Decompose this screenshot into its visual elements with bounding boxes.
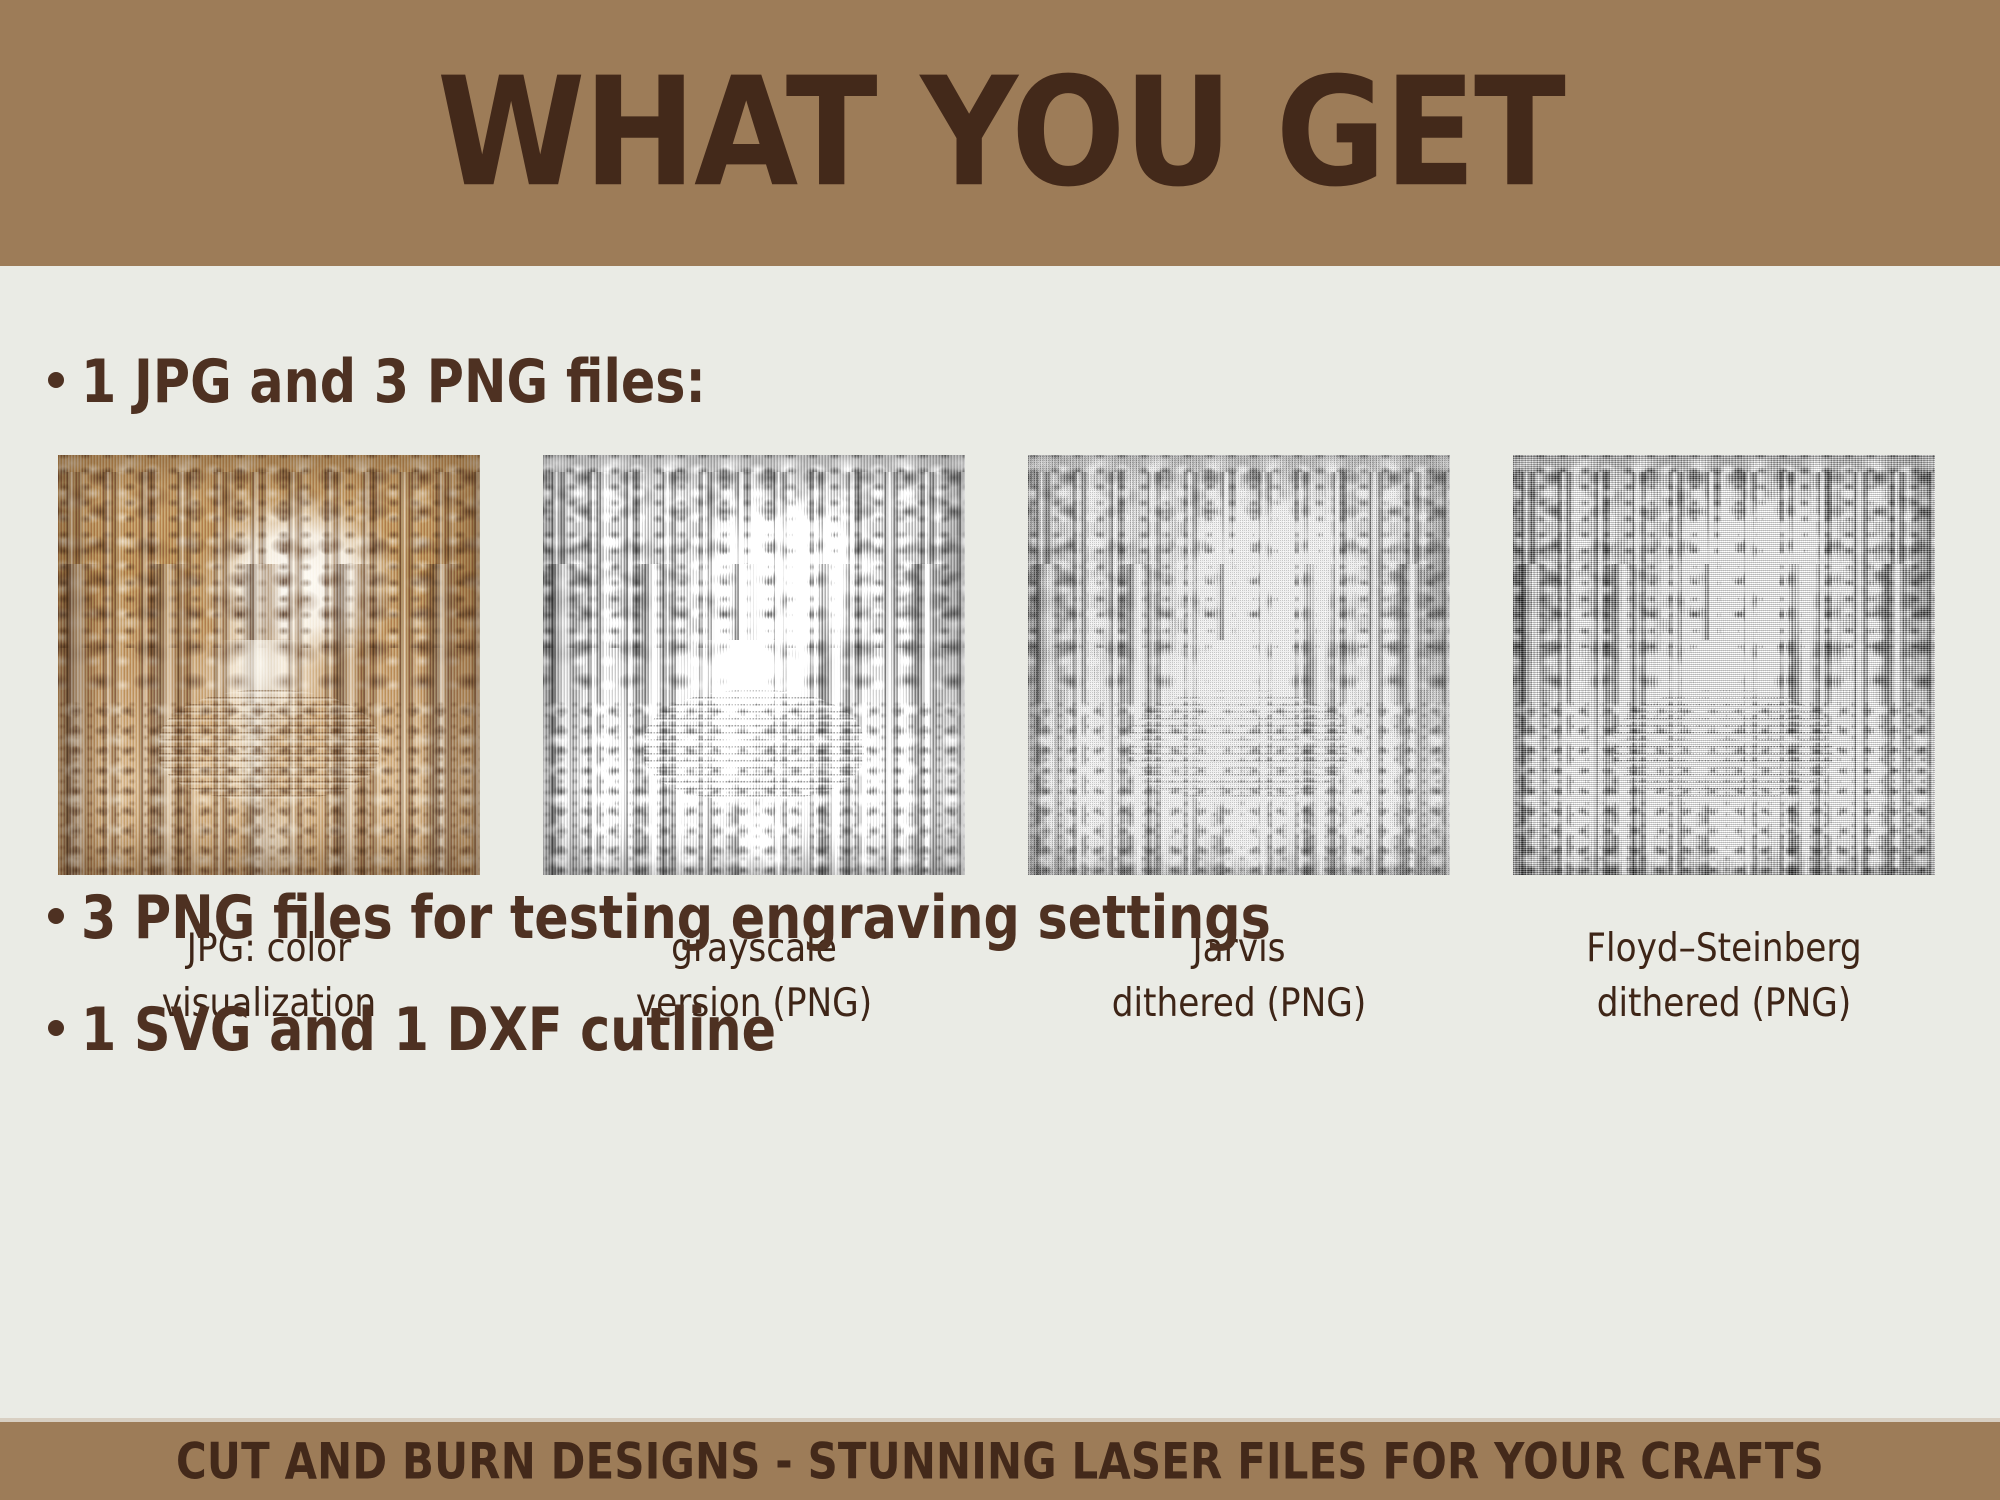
caption-line-2: dithered (PNG) — [1053, 976, 1424, 1031]
preview-image-jpg-color[interactable] — [58, 455, 480, 875]
footer-tagline: CUT AND BURN DESIGNS - STUNNING LASER FI… — [176, 1432, 1824, 1490]
caption-line-2: dithered (PNG) — [1538, 976, 1909, 1031]
page-title: WHAT YOU GET — [437, 58, 1564, 208]
bullet-item-files-list: 1 JPG and 3 PNG files: — [48, 350, 746, 413]
bullet-label-files-list: 1 JPG and 3 PNG files: — [81, 347, 706, 416]
forest-relief-artwork — [1513, 455, 1935, 875]
preview-caption-floyd-steinberg-dithered-png: Floyd–Steinberg dithered (PNG) — [1538, 921, 1909, 1032]
preview-image-floyd-steinberg-dithered-png[interactable] — [1513, 455, 1935, 875]
content-area: 1 JPG and 3 PNG files: — [0, 266, 2000, 1421]
forest-relief-artwork — [58, 455, 480, 875]
forest-relief-artwork — [1028, 455, 1450, 875]
bullet-dot-icon — [48, 372, 64, 388]
caption-line-1: Floyd–Steinberg — [1538, 921, 1909, 976]
preview-image-jarvis-dithered-png[interactable] — [1028, 455, 1450, 875]
bullet-label-svg-dxf: 1 SVG and 1 DXF cutline — [81, 995, 776, 1064]
preview-gallery: JPG: color visualization — [0, 455, 2000, 875]
bullet-item-png-testing: 3 PNG files for testing engraving settin… — [48, 886, 1347, 949]
bullet-item-svg-dxf: 1 SVG and 1 DXF cutline — [48, 998, 821, 1061]
forest-relief-artwork — [543, 455, 965, 875]
preview-item-floyd-steinberg-dithered-png[interactable]: Floyd–Steinberg dithered (PNG) — [1513, 455, 1935, 1032]
bullet-dot-icon — [48, 908, 64, 924]
preview-image-grayscale-png[interactable] — [543, 455, 965, 875]
bullet-label-png-testing: 3 PNG files for testing engraving settin… — [81, 883, 1271, 952]
bullet-dot-icon — [48, 1020, 64, 1036]
footer-band: CUT AND BURN DESIGNS - STUNNING LASER FI… — [0, 1422, 2000, 1500]
header-band: WHAT YOU GET — [0, 0, 2000, 266]
